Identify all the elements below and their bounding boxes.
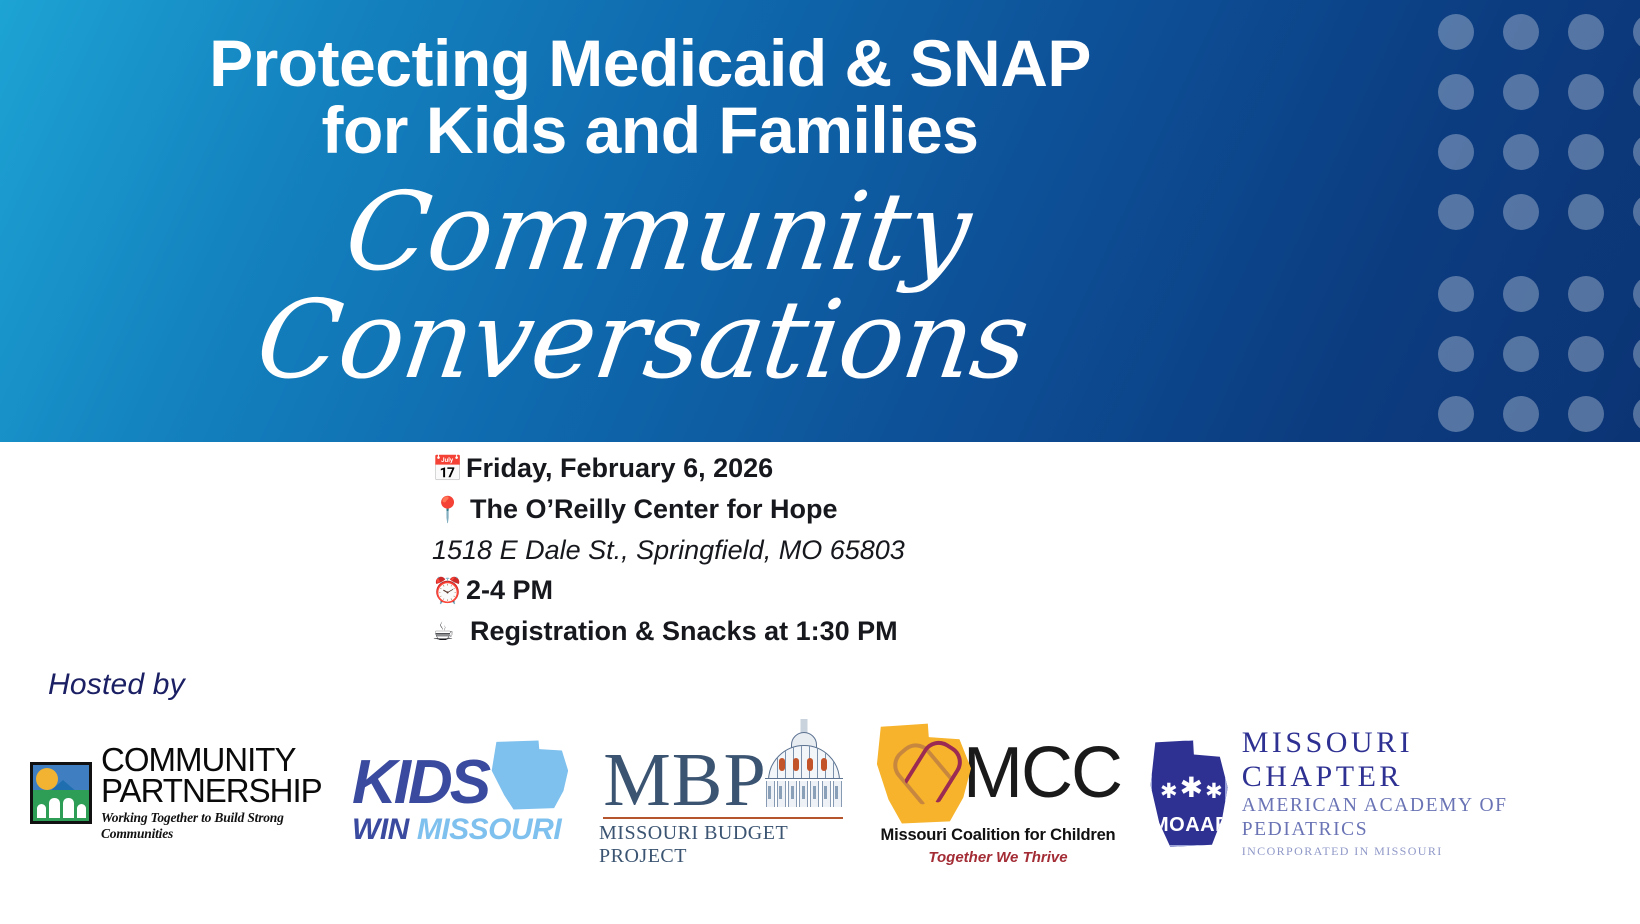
decorative-dot xyxy=(1503,194,1539,230)
decorative-dot xyxy=(1568,74,1604,110)
headline-line-1: Protecting Medicaid & SNAP xyxy=(209,26,1091,100)
logo-moaap: ✱ ✱ ✱ MOAAP MISSOURI CHAPTER AMERICAN AC… xyxy=(1149,726,1579,860)
community-partnership-mark-icon xyxy=(30,762,92,824)
decorative-dot xyxy=(1503,336,1539,372)
decorative-dot xyxy=(1438,336,1474,372)
kids-win-missouri-missouri: MISSOURI xyxy=(417,813,561,847)
detail-time-text: 2-4 PM xyxy=(466,570,553,610)
decorative-dot xyxy=(1438,74,1474,110)
calendar-icon: 📅 xyxy=(432,449,466,489)
detail-time-row: ⏰ 2-4 PM xyxy=(432,570,1332,611)
decorative-dot xyxy=(1503,134,1539,170)
decorative-dot xyxy=(1438,14,1474,50)
alarm-clock-icon: ⏰ xyxy=(432,571,466,611)
decorative-dot xyxy=(1503,14,1539,50)
mcc-subtitle: Missouri Coalition for Children xyxy=(881,826,1116,845)
mbp-letters: MBP xyxy=(603,745,767,815)
headline-line-2: for Kids and Families xyxy=(30,97,1270,164)
detail-address-row: 1518 E Dale St., Springfield, MO 65803 xyxy=(432,530,1332,570)
decorative-dot xyxy=(1633,276,1640,312)
mcc-letters: MCC xyxy=(963,740,1121,806)
detail-date-text: Friday, February 6, 2026 xyxy=(466,448,773,488)
moaap-line2: AMERICAN ACADEMY OF PEDIATRICS xyxy=(1242,794,1579,842)
decorative-dot xyxy=(1633,396,1640,432)
page-title: Protecting Medicaid & SNAP for Kids and … xyxy=(30,0,1270,165)
missouri-state-heart-icon xyxy=(875,721,971,825)
detail-registration-text: Registration & Snacks at 1:30 PM xyxy=(470,611,898,651)
decorative-dot xyxy=(1503,74,1539,110)
decorative-dot xyxy=(1438,134,1474,170)
decorative-dot xyxy=(1503,276,1539,312)
mbp-full-name: MISSOURI BUDGET PROJECT xyxy=(599,822,847,868)
decorative-dot xyxy=(1568,194,1604,230)
banner-text-block: Protecting Medicaid & SNAP for Kids and … xyxy=(0,0,1300,442)
detail-address-text: 1518 E Dale St., Springfield, MO 65803 xyxy=(432,530,905,570)
logo-missouri-budget-project: MBP MISSOURI BUDGET PROJECT xyxy=(599,719,847,868)
event-details: 📅 Friday, February 6, 2026 📍 The O’Reill… xyxy=(432,448,1332,652)
decorative-dot xyxy=(1633,74,1640,110)
community-partnership-line2: PARTNERSHIP xyxy=(101,775,330,806)
logo-kids-win-missouri: KIDS WIN MISSOURI xyxy=(352,739,577,847)
decorative-dot xyxy=(1438,276,1474,312)
location-pin-icon: 📍 xyxy=(432,490,470,530)
detail-venue-text: The O’Reilly Center for Hope xyxy=(470,489,838,529)
decorative-dot xyxy=(1568,276,1604,312)
header-banner: Protecting Medicaid & SNAP for Kids and … xyxy=(0,0,1640,442)
moaap-badge-text: MOAAP xyxy=(1152,814,1225,837)
hot-beverage-icon: ☕ xyxy=(432,612,470,652)
decorative-dot xyxy=(1633,336,1640,372)
decorative-dot xyxy=(1568,336,1604,372)
decorative-dot xyxy=(1503,396,1539,432)
decorative-dot xyxy=(1568,14,1604,50)
decorative-dot xyxy=(1633,14,1640,50)
sponsor-logo-row: COMMUNITY PARTNERSHIP Working Together t… xyxy=(30,718,1610,868)
missouri-state-shape-icon xyxy=(490,739,568,811)
community-partnership-tagline: Working Together to Build Strong Communi… xyxy=(101,810,330,842)
moaap-missouri-badge-icon: ✱ ✱ ✱ MOAAP xyxy=(1149,738,1228,848)
decorative-dot xyxy=(1633,134,1640,170)
detail-registration-row: ☕ Registration & Snacks at 1:30 PM xyxy=(432,611,1332,652)
detail-venue-row: 📍 The O’Reilly Center for Hope xyxy=(432,489,1332,530)
decorative-dot xyxy=(1633,194,1640,230)
event-flyer: Protecting Medicaid & SNAP for Kids and … xyxy=(0,0,1640,924)
decorative-dot xyxy=(1438,194,1474,230)
moaap-line3: INCORPORATED IN MISSOURI xyxy=(1242,842,1579,860)
detail-date-row: 📅 Friday, February 6, 2026 xyxy=(432,448,1332,489)
decorative-dot xyxy=(1568,134,1604,170)
community-partnership-line1: COMMUNITY xyxy=(101,744,330,775)
capitol-dome-icon xyxy=(765,719,843,815)
dot-pattern-decoration xyxy=(1420,0,1640,442)
kids-win-missouri-win: WIN xyxy=(352,813,409,847)
decorative-dot xyxy=(1568,396,1604,432)
kids-win-missouri-line1: KIDS xyxy=(352,755,488,811)
mcc-tagline: Together We Thrive xyxy=(928,849,1067,866)
logo-missouri-coalition-for-children: MCC Missouri Coalition for Children Toge… xyxy=(869,721,1127,866)
script-subtitle: Community Conversations xyxy=(5,179,1295,395)
logo-community-partnership: COMMUNITY PARTNERSHIP Working Together t… xyxy=(30,744,330,842)
moaap-line1: MISSOURI CHAPTER xyxy=(1242,726,1579,794)
hosted-by-label: Hosted by xyxy=(48,668,185,702)
decorative-dot xyxy=(1438,396,1474,432)
